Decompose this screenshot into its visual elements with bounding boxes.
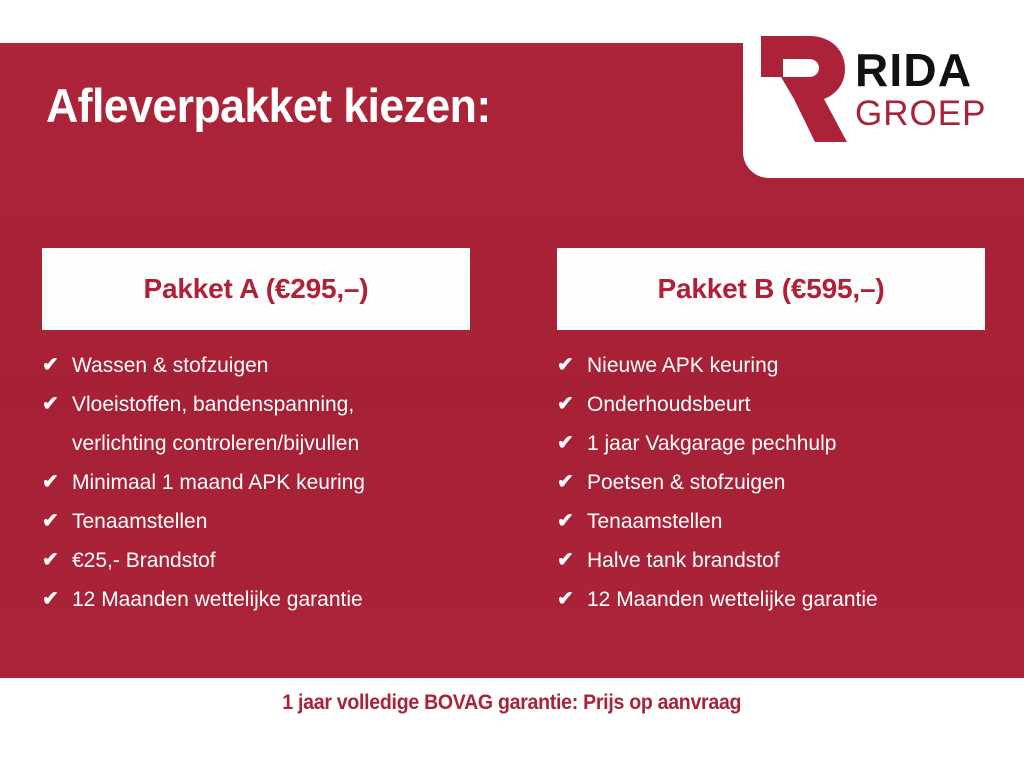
list-item-label: Tenaamstellen <box>72 502 470 541</box>
page-title: Afleverpakket kiezen: <box>46 78 491 134</box>
slide-canvas: Afleverpakket kiezen: RIDA GROEP Pakket … <box>0 0 1024 768</box>
brand-name-secondary: GROEP <box>855 96 986 131</box>
list-item: ✔12 Maanden wettelijke garantie <box>557 580 985 619</box>
rida-r-mark-icon <box>753 30 849 148</box>
list-item-label: Wassen & stofzuigen <box>72 346 470 385</box>
check-icon: ✔ <box>557 424 587 463</box>
list-item: ✔Tenaamstellen <box>42 502 470 541</box>
list-item-label: 1 jaar Vakgarage pechhulp <box>587 424 985 463</box>
footer-note: 1 jaar volledige BOVAG garantie: Prijs o… <box>283 691 742 715</box>
list-item-label: 12 Maanden wettelijke garantie <box>72 580 470 619</box>
list-item: ✔12 Maanden wettelijke garantie <box>42 580 470 619</box>
list-item: ✔Onderhoudsbeurt <box>557 385 985 424</box>
list-item: ✔Halve tank brandstof <box>557 541 985 580</box>
check-icon: ✔ <box>42 463 72 502</box>
list-item-label: Tenaamstellen <box>587 502 985 541</box>
check-icon: ✔ <box>557 346 587 385</box>
list-item: ✔Minimaal 1 maand APK keuring <box>42 463 470 502</box>
footer-banner: 1 jaar volledige BOVAG garantie: Prijs o… <box>0 678 1024 768</box>
package-a-feature-list: ✔Wassen & stofzuigen✔Vloeistoffen, bande… <box>42 346 470 619</box>
package-a-title: Pakket A (€295,–) <box>144 273 369 305</box>
check-icon: ✔ <box>42 502 72 541</box>
brand-logo-panel: RIDA GROEP <box>743 0 1024 178</box>
package-a-header: Pakket A (€295,–) <box>42 248 470 330</box>
list-item: ✔1 jaar Vakgarage pechhulp <box>557 424 985 463</box>
list-item-label: Poetsen & stofzuigen <box>587 463 985 502</box>
list-item: ✔€25,- Brandstof <box>42 541 470 580</box>
list-item-label: 12 Maanden wettelijke garantie <box>587 580 985 619</box>
package-card-b[interactable]: Pakket B (€595,–) ✔Nieuwe APK keuring✔On… <box>557 248 985 619</box>
check-icon: ✔ <box>42 385 72 424</box>
check-icon: ✔ <box>42 346 72 385</box>
list-item: ✔Poetsen & stofzuigen <box>557 463 985 502</box>
package-b-title: Pakket B (€595,–) <box>658 273 885 305</box>
list-item-label: Onderhoudsbeurt <box>587 385 985 424</box>
check-icon: ✔ <box>557 502 587 541</box>
check-icon: ✔ <box>557 580 587 619</box>
package-card-a[interactable]: Pakket A (€295,–) ✔Wassen & stofzuigen✔V… <box>42 248 470 619</box>
brand-name-primary: RIDA <box>855 47 986 93</box>
list-item: ✔Wassen & stofzuigen <box>42 346 470 385</box>
list-item-label: €25,- Brandstof <box>72 541 470 580</box>
list-item-label: Minimaal 1 maand APK keuring <box>72 463 470 502</box>
list-item-label: Halve tank brandstof <box>587 541 985 580</box>
list-item-label: Nieuwe APK keuring <box>587 346 985 385</box>
list-item: ✔Nieuwe APK keuring <box>557 346 985 385</box>
check-icon: ✔ <box>42 541 72 580</box>
list-item: ✔Vloeistoffen, bandenspanning, verlichti… <box>42 385 470 463</box>
check-icon: ✔ <box>557 463 587 502</box>
list-item-label: Vloeistoffen, bandenspanning, verlichtin… <box>72 385 470 463</box>
brand-wordmark: RIDA GROEP <box>855 47 986 131</box>
check-icon: ✔ <box>557 385 587 424</box>
package-b-header: Pakket B (€595,–) <box>557 248 985 330</box>
list-item: ✔Tenaamstellen <box>557 502 985 541</box>
package-b-feature-list: ✔Nieuwe APK keuring✔Onderhoudsbeurt✔1 ja… <box>557 346 985 619</box>
check-icon: ✔ <box>557 541 587 580</box>
check-icon: ✔ <box>42 580 72 619</box>
